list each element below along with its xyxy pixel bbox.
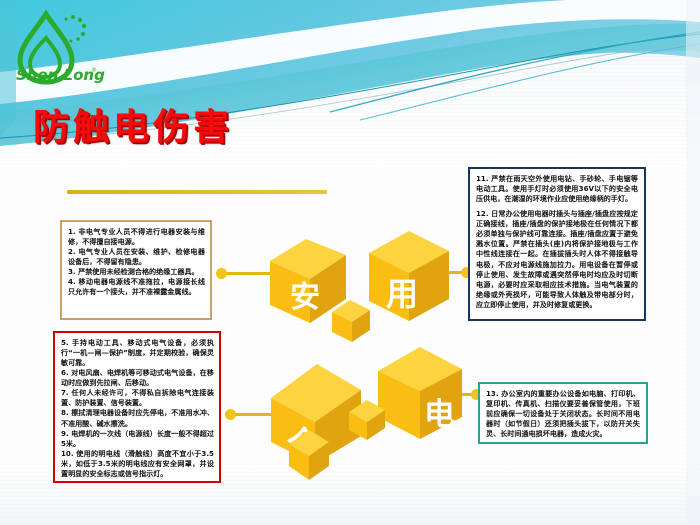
title-underline-rule: [67, 190, 327, 194]
cube-small-bottom: [285, 428, 333, 484]
cube-small-lower: [345, 398, 389, 444]
callout-box-top-left: 1. 非电气专业人员不得进行电器安装与维修，不得擅自接电源。 2. 电气专业人员…: [60, 220, 212, 320]
callout-box-top-right: 11. 严禁在雨天空外使用电钻、手砂轮、手电锯等电动工具。使用手灯时必须使用36…: [468, 167, 646, 321]
shen-long-logo: Shen Long ®: [12, 8, 108, 86]
callout-item: 5. 手持电动工具、移动式电气设备，必须执行“一机—闸—保护”制度，并定期校验，…: [61, 338, 214, 368]
callout-item: 12. 日常办公使用电器时插头与插座/插盘应按规定正确接线，插座/插盘的保护接地…: [476, 209, 638, 310]
cube-glyph-dian: 电: [424, 397, 455, 433]
callout-item: 6. 对电风扇、电焊机等可移动式电气设备，在移动时应做到先拉闸、后移动。: [61, 368, 214, 388]
callout-item: 1. 非电气专业人员不得进行电器安装与维修，不得擅自接电源。: [68, 227, 205, 247]
page-title: 防触电伤害: [33, 98, 233, 150]
connector-dot-top-left: [216, 268, 227, 279]
cube-glyph-an: 安: [290, 280, 320, 315]
callout-box-bottom-left: 5. 手持电动工具、移动式电气设备，必须执行“一机—闸—保护”制度，并定期校验，…: [53, 331, 221, 483]
logo-trademark-icon: ®: [91, 67, 97, 74]
callout-box-bottom-right: 13. 办公室内的重要办公设备如电脑、打印机、复印机、传真机、扫描仪要妥善保管使…: [478, 382, 648, 444]
callout-item: 4. 移动电器电源线不准拖拉，电源接长线只允许有一个接头，并不准裸露金属线。: [68, 277, 205, 297]
callout-item: 3. 严禁使用未经检测合格的绝缘工器具。: [68, 267, 205, 277]
slide-canvas: Shen Long ® 防触电伤害 安 用: [0, 0, 700, 525]
callout-item: 8. 擦拭清理电器设备时应先停电，不准用水冲、不准用酸、碱水擦洗。: [61, 408, 214, 428]
callout-item: 7. 任何人未经许可，不得私自拆除电气连接装置、防护装置、信号装置。: [61, 388, 214, 408]
cube-glyph-yong: 用: [386, 275, 418, 313]
callout-item: 11. 严禁在雨天空外使用电钻、手砂轮、手电锯等电动工具。使用手灯时必须使用36…: [476, 174, 638, 204]
callout-item: 2. 电气专业人员在安装、维护、检修电器设备后，不得留有隐患。: [68, 247, 205, 267]
connector-dot-bottom-left: [225, 409, 236, 420]
callout-item: 13. 办公室内的重要办公设备如电脑、打印机、复印机、传真机、扫描仪要妥善保管使…: [486, 389, 640, 439]
cube-small-center: [328, 298, 374, 346]
callout-item: 9. 电焊机的一次线（电源线）长度一般不得超过5米。: [61, 429, 214, 449]
callout-item: 10. 使用的明电线（滑触线）高度不宜小于3.5米，如低于3.5米的明电线应有安…: [61, 449, 214, 479]
cube-yong: 用: [363, 229, 455, 325]
